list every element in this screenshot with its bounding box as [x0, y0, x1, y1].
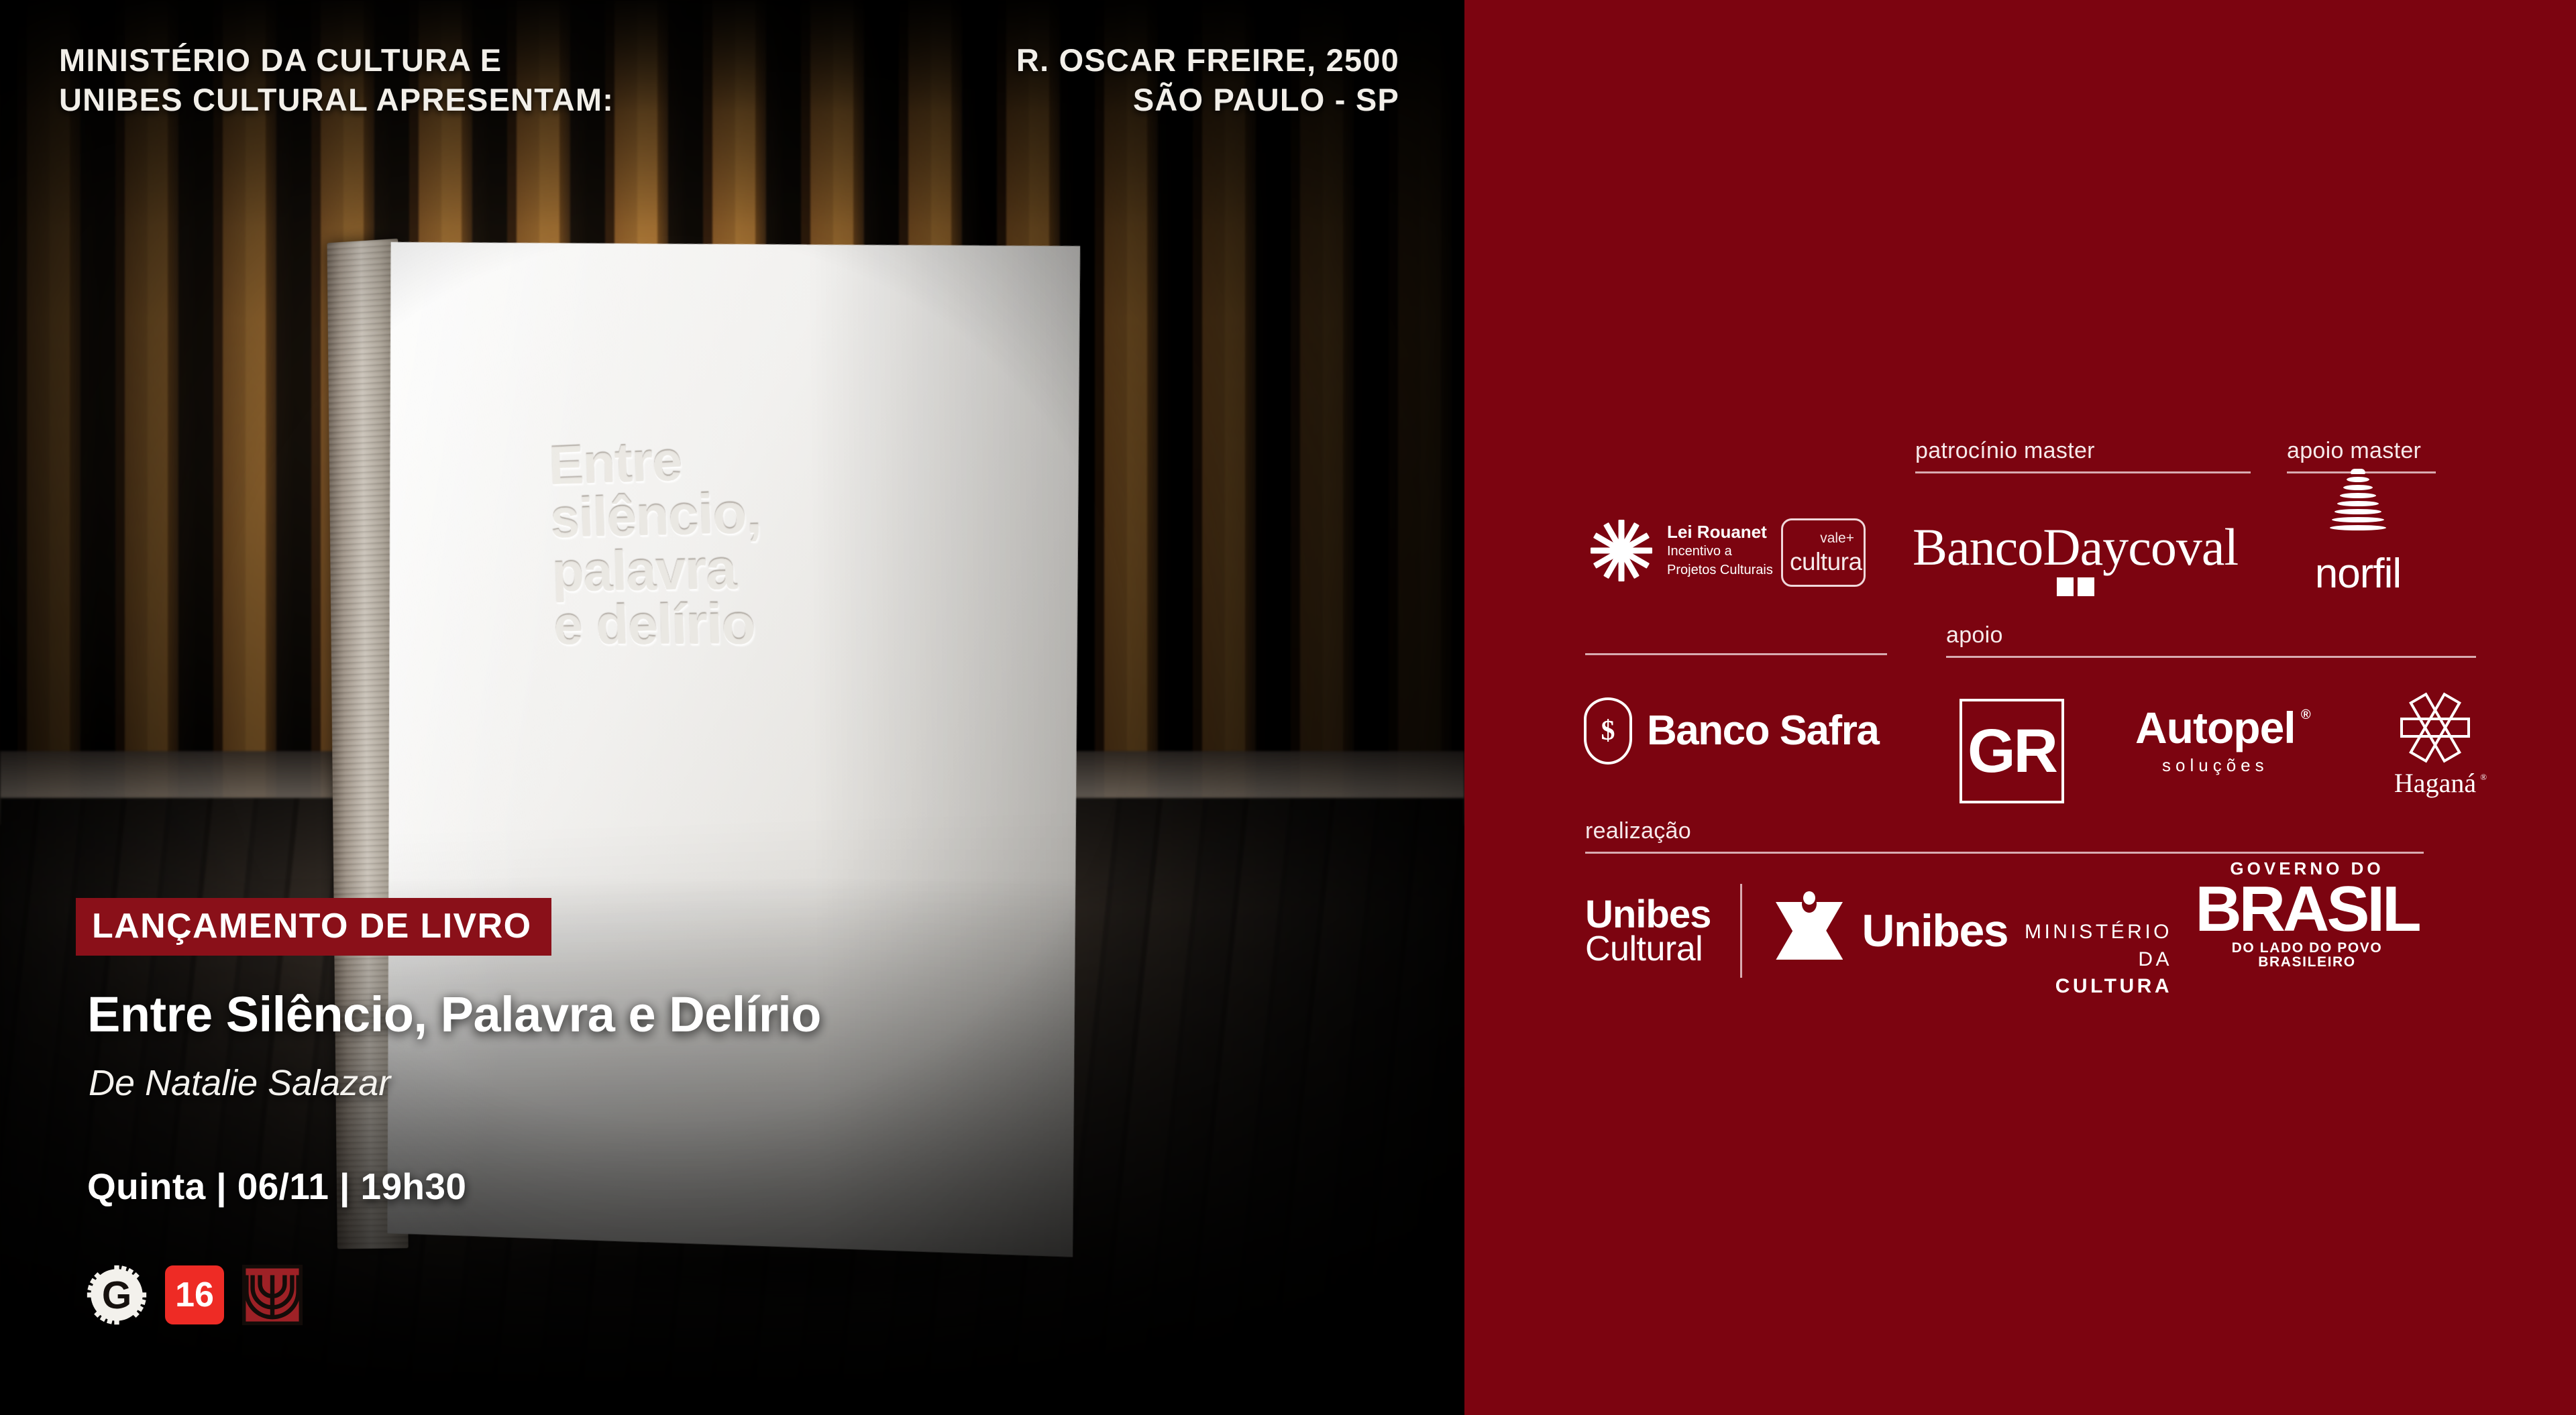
- label-group-apoio: apoio: [1946, 624, 2476, 658]
- vale-cultura-top: vale+: [1820, 531, 1854, 545]
- sponsor-label: apoio master: [2287, 439, 2436, 462]
- hagana-wordmark: Haganá®: [2394, 770, 2476, 797]
- minc-line-2: CULTURA: [1984, 973, 2172, 1001]
- unibes-cultural-line-2: Cultural: [1585, 933, 1711, 966]
- rule-group-left: [1585, 653, 1887, 655]
- sponsor-row-apoio: apoio Banco Safra GR Autopel® soluções: [1464, 624, 2576, 805]
- govbr-brasil-wordmark: BRASIL: [2186, 879, 2428, 940]
- lei-rouanet-sub-2: Projetos Culturais: [1667, 563, 1773, 579]
- label-group-realizacao: realização: [1585, 819, 2424, 854]
- classification-free-gear-icon: G: [86, 1264, 148, 1326]
- logo-gr: GR: [1960, 699, 2064, 803]
- minc-line-1: MINISTÉRIO DA: [1984, 919, 2172, 973]
- sponsor-row-patrocinio-master: patrocínio master apoio master: [1464, 439, 2576, 614]
- autopel-wordmark: Autopel®: [2135, 705, 2296, 750]
- logo-divider: [1740, 884, 1742, 978]
- logo-ministerio-da-cultura: MINISTÉRIO DA CULTURA: [1984, 919, 2172, 1001]
- page-title: Entre Silêncio, Palavra e Delírio: [87, 990, 821, 1039]
- govbr-tagline: DO LADO DO POVO BRASILEIRO: [2186, 941, 2428, 969]
- hagana-registered-mark: ®: [2480, 773, 2487, 781]
- unibes-star-icon: [1772, 891, 1847, 970]
- book-cover: Entre silêncio, palavra e delírio: [377, 186, 1091, 1265]
- sponsor-rule: [1585, 852, 2424, 854]
- sponsor-label: apoio: [1946, 624, 2476, 646]
- emboss-line-1: Entre: [548, 423, 922, 493]
- banco-daycoval-wordmark: BancoDaycoval: [1913, 518, 2238, 576]
- lei-rouanet-burst-icon: [1585, 514, 1658, 587]
- logo-unibes-cultural: Unibes Cultural: [1585, 896, 1711, 966]
- label-group-patrocinio-master: patrocínio master: [1915, 439, 2251, 473]
- logo-autopel: Autopel® soluções: [2135, 705, 2296, 776]
- banco-daycoval-mark-icon: [2057, 577, 2094, 596]
- hagana-name: Haganá: [2394, 768, 2476, 798]
- logo-hagana: Haganá®: [2385, 688, 2485, 797]
- autopel-name: Autopel: [2135, 703, 2296, 752]
- norfil-cone-icon: [2322, 467, 2394, 540]
- logo-vale-cultura: vale+ cultura: [1781, 518, 1866, 587]
- address-line-2: SÃO PAULO - SP: [1016, 80, 1399, 119]
- emboss-line-4: e delírio: [553, 595, 927, 652]
- sponsor-rule: [1915, 471, 2251, 473]
- hagana-star-icon: [2396, 688, 2475, 767]
- sponsor-label: realização: [1585, 819, 2424, 842]
- photo-panel: Entre silêncio, palavra e delírio MINIST…: [0, 0, 1464, 1415]
- menorah-icon: [241, 1264, 303, 1326]
- presenters-text: MINISTÉRIO DA CULTURA E UNIBES CULTURAL …: [59, 40, 614, 119]
- event-poster: Entre silêncio, palavra e delírio MINIST…: [0, 0, 2576, 1415]
- age-rating-16-badge: 16: [165, 1265, 224, 1324]
- banco-safra-wordmark: Banco Safra: [1647, 710, 1878, 752]
- sponsor-rule: [1585, 653, 1887, 655]
- logo-group-unibes: Unibes Cultural Unibes: [1585, 884, 2008, 978]
- address-line-1: R. OSCAR FREIRE, 2500: [1016, 40, 1399, 80]
- logo-banco-daycoval: BancoDaycoval: [1913, 521, 2238, 573]
- logo-norfil: norfil: [2291, 467, 2425, 595]
- lei-rouanet-sub-1: Incentivo a: [1667, 544, 1773, 560]
- logo-banco-safra: Banco Safra: [1584, 697, 1878, 765]
- logo-governo-do-brasil: GOVERNO DO BRASIL DO LADO DO POVO BRASIL…: [2186, 860, 2428, 969]
- sponsor-label: patrocínio master: [1915, 439, 2251, 462]
- venue-address: R. OSCAR FREIRE, 2500 SÃO PAULO - SP: [1016, 40, 1399, 119]
- event-datetime: Quinta | 06/11 | 19h30: [87, 1168, 466, 1205]
- sponsor-rule: [1946, 656, 2476, 658]
- book-photo: Entre silêncio, palavra e delírio: [339, 186, 1097, 1266]
- lei-rouanet-name: Lei Rouanet: [1667, 523, 1773, 541]
- sponsor-row-realizacao: realização Unibes Cultural Unibes: [1464, 819, 2576, 994]
- autopel-registered-mark: ®: [2301, 708, 2310, 722]
- presenters-line-2: UNIBES CULTURAL APRESENTAM:: [59, 80, 614, 119]
- norfil-wordmark: norfil: [2291, 553, 2425, 595]
- autopel-tagline: soluções: [2135, 755, 2296, 776]
- classification-free-letter: G: [102, 1274, 131, 1317]
- banco-safra-shield-icon: [1584, 697, 1632, 765]
- gr-wordmark: GR: [1968, 720, 2056, 782]
- book-author: De Natalie Salazar: [89, 1065, 390, 1101]
- presenters-line-1: MINISTÉRIO DA CULTURA E: [59, 40, 614, 80]
- book-cover-embossed-title: Entre silêncio, palavra e delírio: [548, 423, 927, 653]
- emboss-line-2: silêncio,: [549, 480, 923, 546]
- sponsor-panel: patrocínio master apoio master: [1464, 0, 2576, 1415]
- emboss-line-3: palavra: [551, 537, 925, 598]
- logo-lei-rouanet: Lei Rouanet Incentivo a Projetos Cultura…: [1585, 514, 1773, 587]
- vale-cultura-bottom: cultura: [1790, 549, 1862, 574]
- logo-unibes: Unibes: [1772, 891, 2008, 970]
- lei-rouanet-wordmark: Lei Rouanet Incentivo a Projetos Cultura…: [1667, 523, 1773, 578]
- rating-badge-row: G 16: [86, 1264, 303, 1326]
- unibes-cultural-line-1: Unibes: [1585, 896, 1711, 933]
- launch-badge: LANÇAMENTO DE LIVRO: [76, 898, 551, 956]
